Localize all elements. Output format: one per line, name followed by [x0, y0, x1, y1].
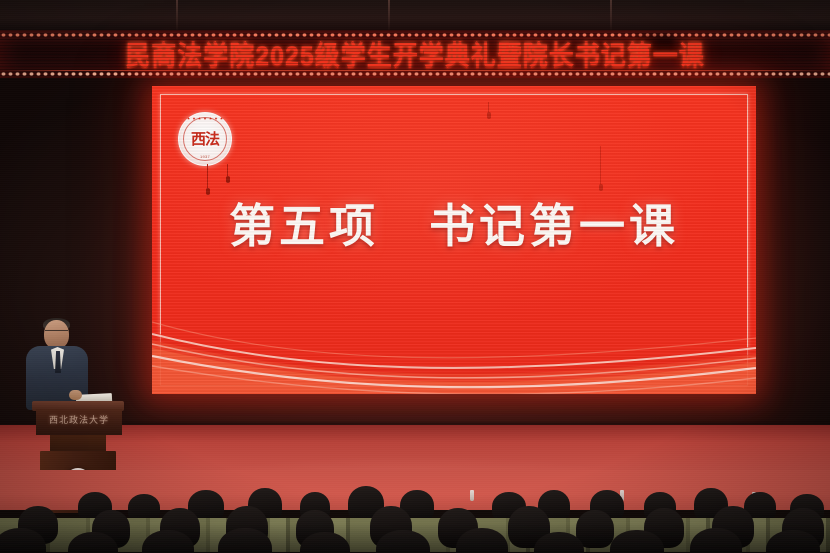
podium-neck — [50, 435, 106, 451]
emblem-tassel — [227, 164, 228, 178]
water-bottle — [470, 490, 474, 501]
wall-seam — [176, 0, 178, 32]
screen-artifact — [488, 102, 489, 114]
glasses-icon — [45, 330, 68, 336]
university-emblem-icon: 西法 1937 — [178, 112, 232, 166]
emblem-monogram: 西法 — [178, 128, 232, 149]
led-banner-text: 民商法学院2025级学生开学典礼暨院长书记第一课 — [0, 36, 830, 73]
screen-artifact — [600, 146, 601, 186]
audience-area — [0, 470, 830, 553]
silk-ribbon-graphic — [152, 274, 756, 394]
ceiling-band — [0, 0, 830, 30]
speaker-hand — [69, 390, 82, 400]
stage-led-screen: 西法 1937 第五项 书记第一课 — [152, 86, 756, 394]
screen-headline: 第五项 书记第一课 — [152, 190, 756, 256]
auditorium-scene: 民商法学院2025级学生开学典礼暨院长书记第一课 西法 1937 第五项 书记第… — [0, 0, 830, 553]
emblem-tassel — [207, 164, 208, 190]
wall-seam — [610, 0, 612, 32]
wall-seam — [388, 0, 390, 32]
led-banner: 民商法学院2025级学生开学典礼暨院长书记第一课 — [0, 30, 830, 78]
podium-university-label: 西北政法大学 — [36, 413, 122, 426]
emblem-subtext: 1937 — [178, 154, 232, 159]
